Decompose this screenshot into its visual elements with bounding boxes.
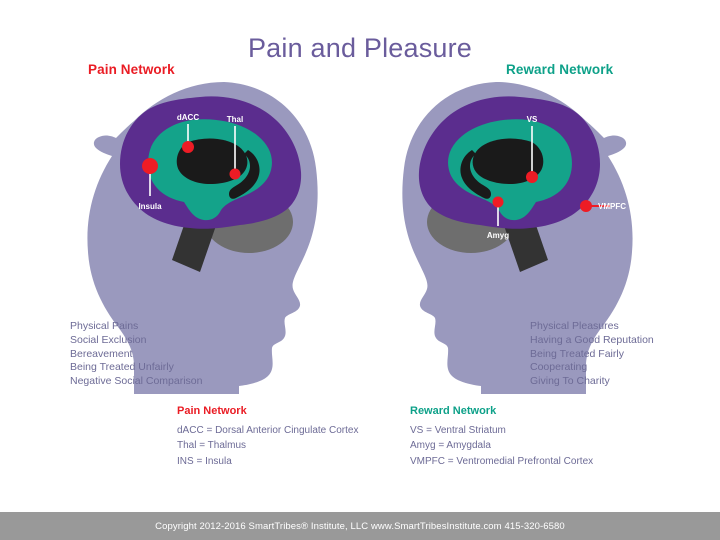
slide-canvas: Pain and Pleasure Pain Network Reward Ne… <box>0 0 720 540</box>
vmpfc-marker[interactable] <box>580 200 592 212</box>
legend-title: Pain Network <box>177 404 358 420</box>
footer-bar: Copyright 2012-2016 SmartTribes® Institu… <box>0 512 720 540</box>
list-item: Physical Pains <box>70 320 202 334</box>
page-title: Pain and Pleasure <box>0 33 720 64</box>
dacc-marker[interactable] <box>182 141 194 153</box>
list-item: Negative Social Comparison <box>70 375 202 389</box>
list-item: Being Treated Unfairly <box>70 361 202 375</box>
insula-marker[interactable] <box>142 158 158 174</box>
amyg-label: Amyg <box>487 231 509 240</box>
legend-row: Thal = Thalmus <box>177 438 358 454</box>
list-item: Physical Pleasures <box>530 320 654 334</box>
legend-row: VMPFC = Ventromedial Prefrontal Cortex <box>410 454 593 470</box>
dacc-label: dACC <box>177 113 199 122</box>
pain-network-header: Pain Network <box>88 62 175 77</box>
list-item: Bereavement <box>70 348 202 362</box>
vs-marker[interactable] <box>526 171 538 183</box>
list-item: Social Exclusion <box>70 334 202 348</box>
thal-label: Thal <box>227 115 243 124</box>
list-item: Having a Good Reputation <box>530 334 654 348</box>
legend-row: INS = Insula <box>177 454 358 470</box>
pain-descriptor-list: Physical Pains Social Exclusion Bereavem… <box>70 320 202 389</box>
vmpfc-label: VMPFC <box>598 202 626 211</box>
amyg-marker[interactable] <box>493 197 504 208</box>
pain-network-legend: Pain Network dACC = Dorsal Anterior Cing… <box>177 404 358 469</box>
thal-marker[interactable] <box>230 169 241 180</box>
list-item: Cooperating <box>530 361 654 375</box>
copyright-text: Copyright 2012-2016 SmartTribes® Institu… <box>155 521 565 532</box>
legend-row: dACC = Dorsal Anterior Cingulate Cortex <box>177 423 358 439</box>
pleasure-descriptor-list: Physical Pleasures Having a Good Reputat… <box>530 320 654 389</box>
list-item: Being Treated Fairly <box>530 348 654 362</box>
insula-label: Insula <box>138 202 162 211</box>
legend-row: Amyg = Amygdala <box>410 438 593 454</box>
legend-row: VS = Ventral Striatum <box>410 423 593 439</box>
legend-title: Reward Network <box>410 404 593 420</box>
reward-network-legend: Reward Network VS = Ventral Striatum Amy… <box>410 404 593 469</box>
reward-network-header: Reward Network <box>506 62 613 77</box>
list-item: Giving To Charity <box>530 375 654 389</box>
vs-label: VS <box>527 115 538 124</box>
